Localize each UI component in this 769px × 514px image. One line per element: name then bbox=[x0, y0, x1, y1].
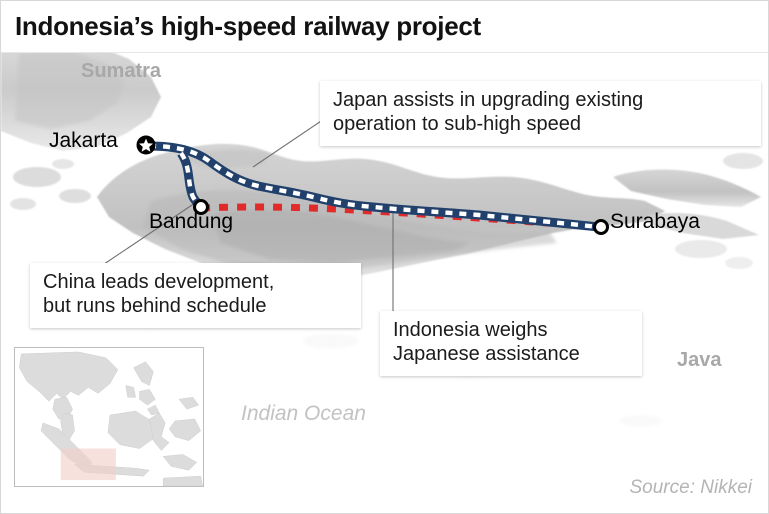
southeast-asia-locator-map bbox=[14, 347, 204, 487]
title-band: Indonesia’s high-speed railway project bbox=[1, 1, 769, 53]
region-label-java: Java bbox=[677, 349, 722, 372]
city-label-surabaya: Surabaya bbox=[610, 210, 700, 234]
callout-china-line-2: but runs behind schedule bbox=[43, 294, 349, 318]
callout-indonesia-line-1: Indonesia weighs bbox=[393, 318, 630, 342]
inset-svg bbox=[15, 348, 203, 486]
callout-japan-assistance: Japan assists in upgrading existing oper… bbox=[320, 81, 761, 146]
infographic-map: Indonesia’s high-speed railway project S… bbox=[0, 0, 769, 514]
callout-indonesia-weighs: Indonesia weighs Japanese assistance bbox=[380, 311, 642, 376]
source-credit: Source: Nikkei bbox=[630, 477, 753, 499]
capital-star-marker-jakarta bbox=[137, 136, 156, 155]
inset-highlight-rect bbox=[61, 449, 116, 481]
callout-japan-line-1: Japan assists in upgrading existing bbox=[333, 88, 749, 112]
landmass-islets bbox=[10, 159, 91, 210]
callout-china-line-1: China leads development, bbox=[43, 270, 349, 294]
region-label-sumatra: Sumatra bbox=[81, 60, 161, 83]
city-circle-marker-surabaya bbox=[593, 219, 609, 235]
ocean-label-indian-ocean: Indian Ocean bbox=[241, 402, 366, 426]
page-title: Indonesia’s high-speed railway project bbox=[15, 11, 481, 42]
callout-japan-line-2: operation to sub-high speed bbox=[333, 112, 749, 136]
city-label-bandung: Bandung bbox=[149, 210, 233, 234]
callout-indonesia-line-2: Japanese assistance bbox=[393, 342, 630, 366]
callout-china-development: China leads development, but runs behind… bbox=[30, 263, 361, 328]
city-label-jakarta: Jakarta bbox=[49, 129, 118, 153]
